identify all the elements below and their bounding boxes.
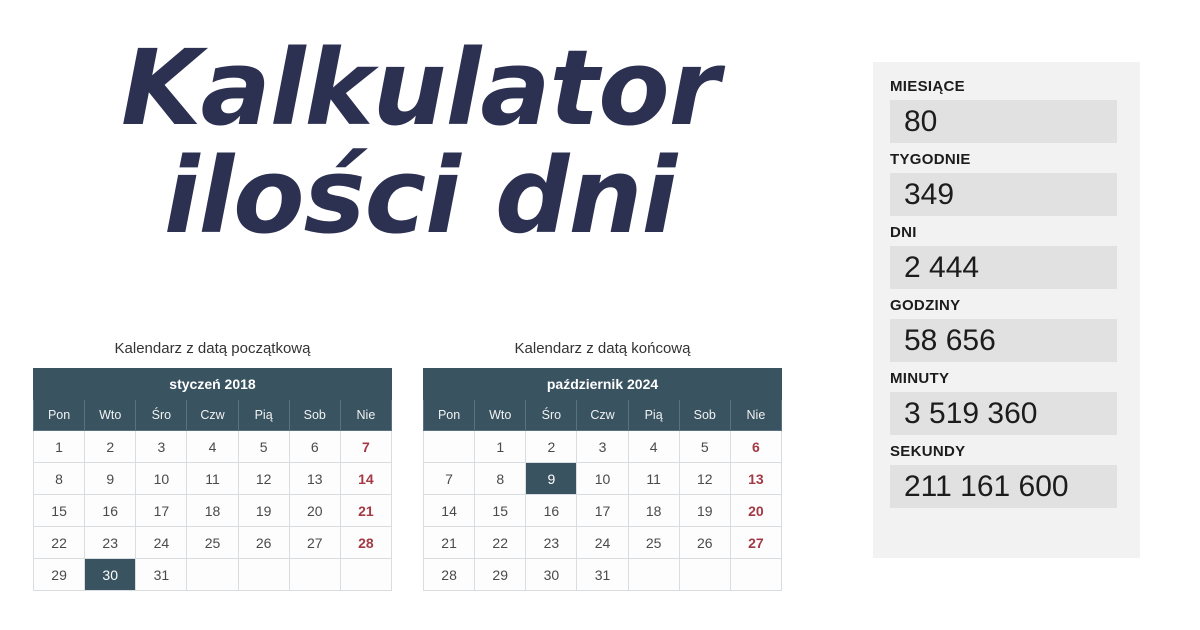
calendar-day[interactable]: 27 xyxy=(730,527,781,559)
calendar-day-empty xyxy=(289,559,340,591)
calendar-week-row: 891011121314 xyxy=(34,463,392,495)
calendar-day[interactable]: 3 xyxy=(136,431,187,463)
calendar-day[interactable]: 26 xyxy=(679,527,730,559)
result-value-tygodnie: 349 xyxy=(890,173,1117,216)
page-title-line-2: ilości dni xyxy=(0,142,840,250)
calendar-day[interactable]: 12 xyxy=(238,463,289,495)
calendar-day[interactable]: 23 xyxy=(85,527,136,559)
calendar-weekday-row: PonWtoŚroCzwPiąSobNie xyxy=(424,400,782,431)
calendar-day-empty xyxy=(340,559,391,591)
start-date-calendar-block: Kalendarz z datą początkową styczeń 2018… xyxy=(33,340,392,591)
calendar-day[interactable]: 27 xyxy=(289,527,340,559)
calendar-day-empty xyxy=(424,431,475,463)
calendar-week-row: 123456 xyxy=(424,431,782,463)
calendar-day[interactable]: 19 xyxy=(679,495,730,527)
result-value-sekundy: 211 161 600 xyxy=(890,465,1117,508)
result-row: MINUTY3 519 360 xyxy=(890,368,1117,435)
calendar-day[interactable]: 17 xyxy=(136,495,187,527)
calendar-day[interactable]: 20 xyxy=(289,495,340,527)
calendar-day[interactable]: 18 xyxy=(628,495,679,527)
start-date-calendar-mount: styczeń 2018PonWtoŚroCzwPiąSobNie1234567… xyxy=(33,368,392,591)
calendar-weekday-śro: Śro xyxy=(526,400,577,431)
calendar-day[interactable]: 31 xyxy=(577,559,628,591)
calendar-day[interactable]: 24 xyxy=(577,527,628,559)
calendar-day[interactable]: 15 xyxy=(34,495,85,527)
calendar-weekday-sob: Sob xyxy=(289,400,340,431)
calendar-day[interactable]: 29 xyxy=(475,559,526,591)
calendar-day-empty xyxy=(238,559,289,591)
calendar-day-selected[interactable]: 30 xyxy=(85,559,136,591)
result-row: GODZINY58 656 xyxy=(890,295,1117,362)
result-label-minuty: MINUTY xyxy=(890,368,1117,390)
calendar-day[interactable]: 5 xyxy=(679,431,730,463)
calendar-table: styczeń 2018PonWtoŚroCzwPiąSobNie1234567… xyxy=(33,368,392,591)
result-label-tygodnie: TYGODNIE xyxy=(890,149,1117,171)
calendar-weekday-wto: Wto xyxy=(475,400,526,431)
calendar-day[interactable]: 29 xyxy=(34,559,85,591)
results-rows-mount: MIESIĄCE80TYGODNIE349DNI2 444GODZINY58 6… xyxy=(890,76,1117,508)
results-panel: MIESIĄCE80TYGODNIE349DNI2 444GODZINY58 6… xyxy=(873,62,1140,558)
calendar-day[interactable]: 3 xyxy=(577,431,628,463)
calendar-week-row: 22232425262728 xyxy=(34,527,392,559)
end-date-calendar-caption: Kalendarz z datą końcową xyxy=(423,340,782,358)
result-label-sekundy: SEKUNDY xyxy=(890,441,1117,463)
calendar-day[interactable]: 18 xyxy=(187,495,238,527)
result-value-miesiące: 80 xyxy=(890,100,1117,143)
calendar-weekday-nie: Nie xyxy=(340,400,391,431)
calendar-day-empty xyxy=(679,559,730,591)
calendar-day[interactable]: 21 xyxy=(424,527,475,559)
calendar-month-label: październik 2024 xyxy=(424,369,782,400)
calendar-week-row: 14151617181920 xyxy=(424,495,782,527)
calendar-day[interactable]: 10 xyxy=(577,463,628,495)
calendar-week-row: 293031 xyxy=(34,559,392,591)
calendar-weekday-czw: Czw xyxy=(187,400,238,431)
result-value-minuty: 3 519 360 xyxy=(890,392,1117,435)
start-date-calendar-caption: Kalendarz z datą początkową xyxy=(33,340,392,358)
calendar-day[interactable]: 1 xyxy=(34,431,85,463)
calendar-day[interactable]: 13 xyxy=(730,463,781,495)
calendar-day[interactable]: 9 xyxy=(85,463,136,495)
calendar-week-row: 78910111213 xyxy=(424,463,782,495)
calendar-day[interactable]: 22 xyxy=(475,527,526,559)
calendar-day[interactable]: 17 xyxy=(577,495,628,527)
calendar-day[interactable]: 4 xyxy=(628,431,679,463)
result-value-godziny: 58 656 xyxy=(890,319,1117,362)
calendar-day[interactable]: 30 xyxy=(526,559,577,591)
calendar-day[interactable]: 14 xyxy=(340,463,391,495)
calendar-week-row: 28293031 xyxy=(424,559,782,591)
calendar-day[interactable]: 8 xyxy=(34,463,85,495)
calendar-table: październik 2024PonWtoŚroCzwPiąSobNie123… xyxy=(423,368,782,591)
calendar-weekday-śro: Śro xyxy=(136,400,187,431)
calendar-month-row: październik 2024 xyxy=(424,369,782,400)
calendar-day[interactable]: 25 xyxy=(628,527,679,559)
calendar-weekday-pią: Pią xyxy=(628,400,679,431)
calendar-day[interactable]: 11 xyxy=(628,463,679,495)
calendar-day[interactable]: 13 xyxy=(289,463,340,495)
result-row: DNI2 444 xyxy=(890,222,1117,289)
calendar-day-empty xyxy=(730,559,781,591)
calendar-day-empty xyxy=(628,559,679,591)
page-title: Kalkulator ilości dni xyxy=(0,34,840,250)
calendar-day[interactable]: 6 xyxy=(730,431,781,463)
calendar-day[interactable]: 28 xyxy=(340,527,391,559)
calendar-day-empty xyxy=(187,559,238,591)
result-value-dni: 2 444 xyxy=(890,246,1117,289)
calendar-weekday-pon: Pon xyxy=(424,400,475,431)
calendar-day[interactable]: 7 xyxy=(424,463,475,495)
calendar-week-row: 15161718192021 xyxy=(34,495,392,527)
result-row: TYGODNIE349 xyxy=(890,149,1117,216)
calendar-week-row: 1234567 xyxy=(34,431,392,463)
calendar-day[interactable]: 8 xyxy=(475,463,526,495)
calendar-day[interactable]: 25 xyxy=(187,527,238,559)
calendar-day[interactable]: 11 xyxy=(187,463,238,495)
calendar-day[interactable]: 24 xyxy=(136,527,187,559)
calendar-day[interactable]: 19 xyxy=(238,495,289,527)
calendar-day[interactable]: 7 xyxy=(340,431,391,463)
calendar-week-row: 21222324252627 xyxy=(424,527,782,559)
calendar-weekday-nie: Nie xyxy=(730,400,781,431)
calendar-day[interactable]: 26 xyxy=(238,527,289,559)
calendar-day[interactable]: 14 xyxy=(424,495,475,527)
calendar-weekday-wto: Wto xyxy=(85,400,136,431)
end-date-calendar-mount: październik 2024PonWtoŚroCzwPiąSobNie123… xyxy=(423,368,782,591)
calendar-month-label: styczeń 2018 xyxy=(34,369,392,400)
calendar-day[interactable]: 1 xyxy=(475,431,526,463)
result-row: SEKUNDY211 161 600 xyxy=(890,441,1117,508)
calendar-day[interactable]: 2 xyxy=(85,431,136,463)
calendar-day[interactable]: 16 xyxy=(526,495,577,527)
calendar-day-selected[interactable]: 9 xyxy=(526,463,577,495)
calendar-weekday-czw: Czw xyxy=(577,400,628,431)
calendar-day[interactable]: 15 xyxy=(475,495,526,527)
page-title-line-1: Kalkulator xyxy=(0,34,840,142)
calendar-day[interactable]: 10 xyxy=(136,463,187,495)
calendar-day[interactable]: 4 xyxy=(187,431,238,463)
calendar-weekday-pią: Pią xyxy=(238,400,289,431)
result-label-miesiące: MIESIĄCE xyxy=(890,76,1117,98)
calendar-month-row: styczeń 2018 xyxy=(34,369,392,400)
calendar-weekday-pon: Pon xyxy=(34,400,85,431)
calendar-day[interactable]: 23 xyxy=(526,527,577,559)
calendar-day[interactable]: 21 xyxy=(340,495,391,527)
result-label-godziny: GODZINY xyxy=(890,295,1117,317)
calendar-day[interactable]: 31 xyxy=(136,559,187,591)
calendar-day[interactable]: 22 xyxy=(34,527,85,559)
calendar-weekday-sob: Sob xyxy=(679,400,730,431)
calendar-weekday-row: PonWtoŚroCzwPiąSobNie xyxy=(34,400,392,431)
calendar-day[interactable]: 12 xyxy=(679,463,730,495)
result-row: MIESIĄCE80 xyxy=(890,76,1117,143)
calendar-day[interactable]: 2 xyxy=(526,431,577,463)
calendar-day[interactable]: 5 xyxy=(238,431,289,463)
calendar-day[interactable]: 16 xyxy=(85,495,136,527)
result-label-dni: DNI xyxy=(890,222,1117,244)
calendar-day[interactable]: 20 xyxy=(730,495,781,527)
calendar-day[interactable]: 28 xyxy=(424,559,475,591)
end-date-calendar-block: Kalendarz z datą końcową październik 202… xyxy=(423,340,782,591)
calendar-day[interactable]: 6 xyxy=(289,431,340,463)
